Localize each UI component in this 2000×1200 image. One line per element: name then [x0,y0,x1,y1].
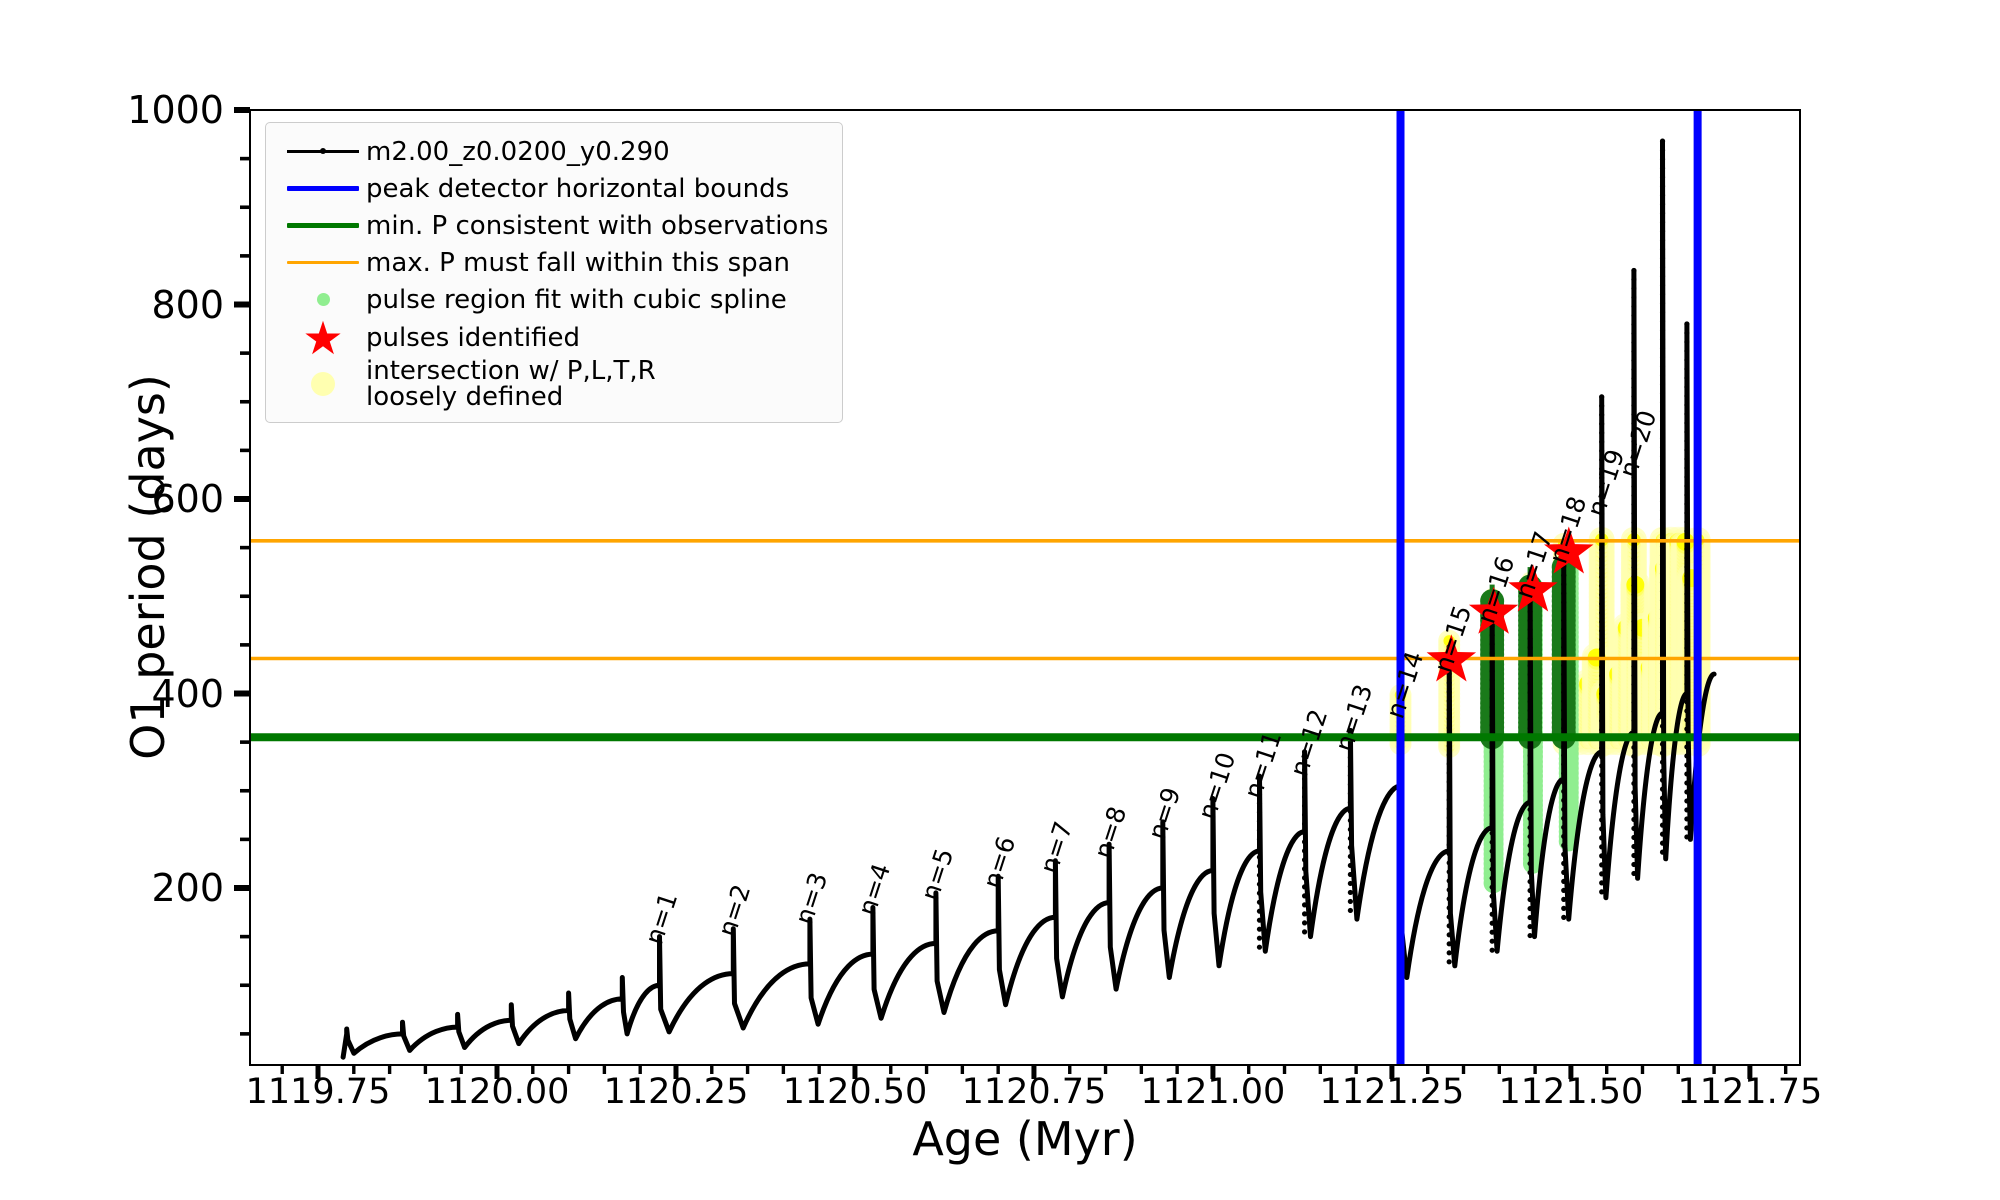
x-tick-label: 1121.00 [1141,1072,1286,1112]
x-tick-label: 1121.75 [1678,1072,1823,1112]
x-tick-label: 1120.75 [962,1072,1107,1112]
y-tick-label: 1000 [127,88,224,132]
x-tick-label: 1120.50 [783,1072,928,1112]
legend-label: intersection w/ P,L,T,R loosely defined [366,358,656,410]
x-tick-label: 1121.25 [1320,1072,1465,1112]
pulse-star-icon: ★ [280,321,366,355]
x-tick-label: 1121.50 [1499,1072,1644,1112]
x-tick-label: 1120.00 [425,1072,570,1112]
legend-entry[interactable]: min. P consistent with observations [280,207,828,244]
legend-entry[interactable]: m2.00_z0.0200_y0.290 [280,133,828,170]
legend-entry[interactable]: intersection w/ P,L,T,R loosely defined [280,358,828,410]
legend-label: m2.00_z0.0200_y0.290 [366,139,670,165]
legend-label: peak detector horizontal bounds [366,176,789,202]
legend-box[interactable]: m2.00_z0.0200_y0.290peak detector horizo… [265,122,843,423]
series-line-icon [280,135,366,169]
x-axis-title: Age (Myr) [250,1112,1800,1166]
legend-label: min. P consistent with observations [366,213,828,239]
reference-line-icon [280,246,366,280]
y-axis-title: O1 period (days) [121,187,175,947]
reference-line-icon [280,209,366,243]
x-tick-label: 1120.25 [604,1072,749,1112]
legend-entry[interactable]: ★pulses identified [280,318,828,358]
legend-label: max. P must fall within this span [366,250,790,276]
legend-label: pulse region fit with cubic spline [366,287,787,313]
figure-root: 2004006008001000 1119.751120.001120.2511… [0,0,2000,1200]
x-tick-label: 1119.75 [246,1072,391,1112]
legend-label: pulses identified [366,325,580,351]
legend-entry[interactable]: peak detector horizontal bounds [280,170,828,207]
reference-line-icon [280,172,366,206]
legend-entry[interactable]: pulse region fit with cubic spline [280,281,828,318]
intersection-dot-icon [280,367,366,401]
legend-entry[interactable]: max. P must fall within this span [280,244,828,281]
